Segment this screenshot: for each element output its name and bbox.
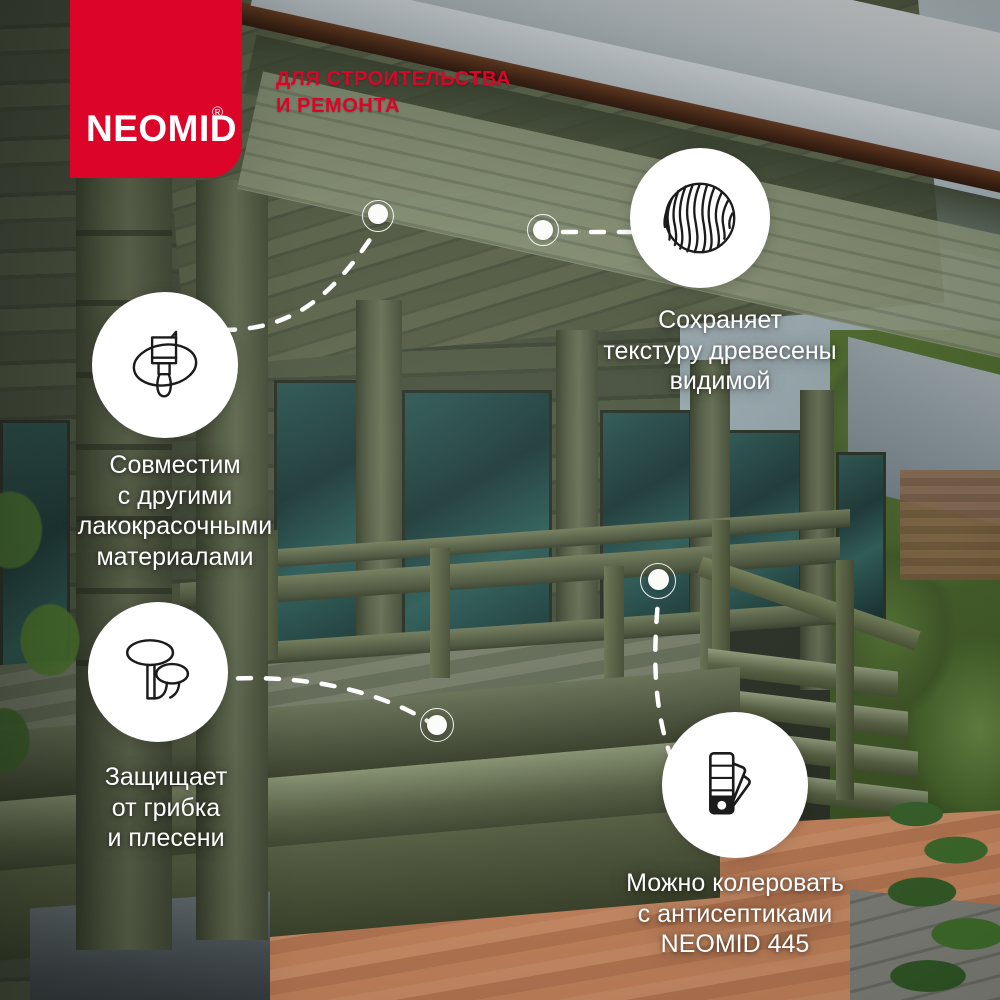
paint-brush-icon: [119, 319, 211, 411]
wood-grain-icon: [655, 173, 745, 263]
feature-caption-paint-compatible: Совместим с другими лакокрасочными матер…: [48, 450, 302, 572]
connector-dot-wood: [527, 214, 559, 246]
promo-banner: NEOMID ® ДЛЯ СТРОИТЕЛЬСТВА И РЕМОНТА: [0, 0, 1000, 1000]
brand-logo-block[interactable]: NEOMID ®: [70, 0, 242, 178]
mushroom-icon-bubble[interactable]: [88, 602, 228, 742]
color-fan-icon-bubble[interactable]: [662, 712, 808, 858]
color-fan-icon: [691, 741, 779, 829]
mushroom-icon: [114, 628, 202, 716]
brand-tagline: ДЛЯ СТРОИТЕЛЬСТВА И РЕМОНТА: [276, 66, 511, 120]
wood-grain-icon-bubble[interactable]: [630, 148, 770, 288]
dot-core: [368, 204, 388, 224]
feature-caption-tintable: Можно колеровать с антисептиками NEOMID …: [570, 868, 900, 960]
connector-dot-deck: [420, 708, 454, 742]
connector-dot-brush: [362, 200, 394, 232]
dot-core: [648, 569, 669, 590]
dot-core: [533, 220, 553, 240]
connector-dot-railing: [640, 563, 676, 599]
feature-caption-fungus-protection: Защищает от грибка и плесени: [50, 762, 282, 854]
dot-core: [427, 715, 447, 735]
registered-trademark-icon: ®: [212, 104, 223, 121]
feature-caption-wood-texture: Сохраняет текстуру древесены видимой: [560, 305, 880, 397]
paint-brush-icon-bubble[interactable]: [92, 292, 238, 438]
